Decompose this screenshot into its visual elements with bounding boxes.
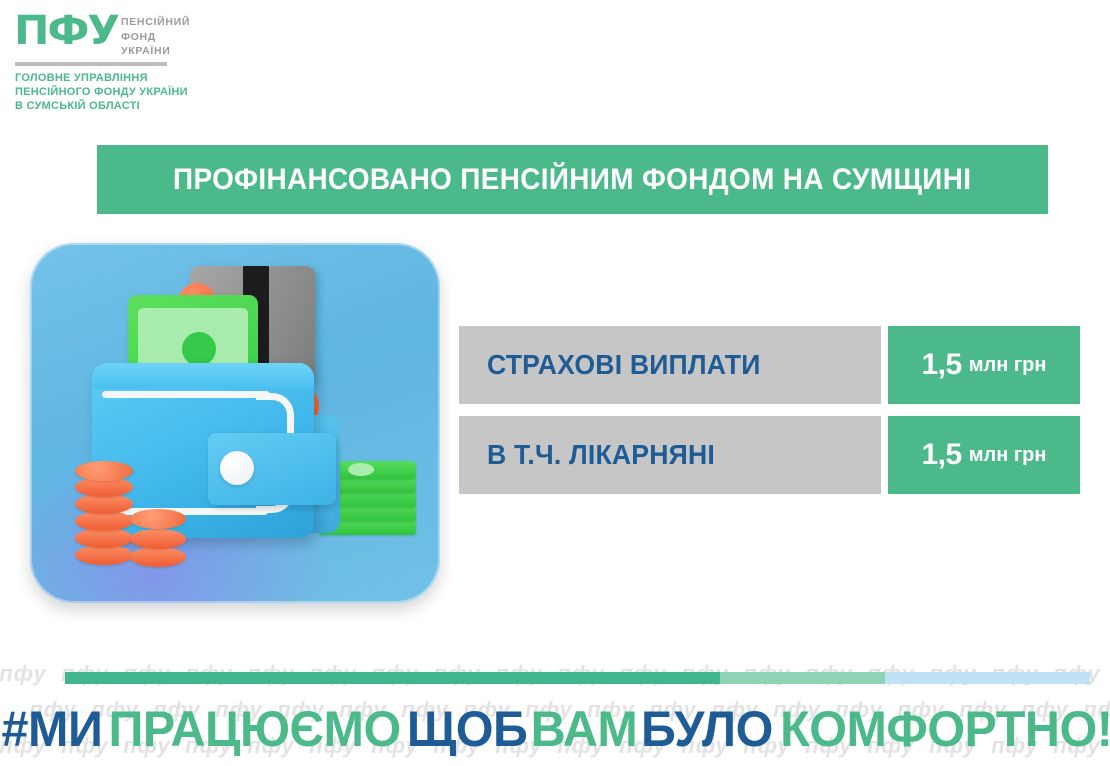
stat-row: В Т.Ч. ЛІКАРНЯНІ 1,5 млн грн	[459, 416, 1080, 494]
hashtag-part: ВАМ	[531, 700, 638, 758]
footer-hashtag: #МИПРАЦЮЄМОЩОБВАМБУЛОКОМФОРТНО!	[0, 700, 1110, 758]
wallet-money-illustration	[30, 243, 440, 603]
stat-value-unit: млн грн	[969, 354, 1047, 377]
stat-value-number: 1,5	[922, 438, 962, 472]
org-line-3: УКРАЇНИ	[121, 44, 190, 59]
bar-segment-light-green	[720, 672, 885, 684]
stat-label-text: В Т.Ч. ЛІКАРНЯНІ	[487, 439, 715, 471]
banknote-seal	[182, 332, 216, 366]
header-banner: ПРОФІНАНСОВАНО ПЕНСІЙНИМ ФОНДОМ НА СУМЩИ…	[97, 145, 1048, 214]
coin-disc	[75, 545, 133, 565]
stat-value-box: 1,5 млн грн	[888, 326, 1080, 404]
stat-label-text: СТРАХОВІ ВИПЛАТИ	[487, 349, 761, 381]
hashtag-part: ПРАЦЮЄМО	[108, 700, 400, 758]
coin-disc	[130, 547, 186, 567]
stat-value-number: 1,5	[922, 348, 962, 382]
org-line-2: ФОНД	[121, 30, 190, 45]
dept-line-1: ГОЛОВНЕ УПРАВЛІННЯ	[15, 71, 244, 85]
wallet-clasp-icon	[220, 451, 254, 485]
stat-row: СТРАХОВІ ВИПЛАТИ 1,5 млн грн	[459, 326, 1080, 404]
watermark-text: пфу	[0, 660, 54, 692]
stat-value-box: 1,5 млн грн	[888, 416, 1080, 494]
logo-row: ПФУ ПЕНСІЙНИЙ ФОНД УКРАЇНИ	[14, 10, 244, 59]
coin-disc	[75, 494, 133, 514]
bar-segment-green	[65, 672, 720, 684]
pfu-logomark: ПФУ	[14, 10, 118, 52]
pfu-logo-block: ПФУ ПЕНСІЙНИЙ ФОНД УКРАЇНИ ГОЛОВНЕ УПРАВ…	[14, 10, 244, 113]
statistics-list: СТРАХОВІ ВИПЛАТИ 1,5 млн грн В Т.Ч. ЛІКА…	[459, 326, 1080, 506]
footer: пфупфупфупфупфупфупфупфупфупфупфупфупфуп…	[0, 660, 1110, 766]
hashtag-part: КОМФОРТНО!	[780, 700, 1110, 758]
coin-disc	[130, 509, 186, 529]
coin-disc	[130, 529, 186, 549]
org-line-1: ПЕНСІЙНИЙ	[121, 15, 190, 30]
hashtag-part: ЩОБ	[407, 700, 528, 758]
coin-stack-tall	[75, 461, 133, 566]
department-name: ГОЛОВНЕ УПРАВЛІННЯ ПЕНСІЙНОГО ФОНДУ УКРА…	[15, 71, 244, 113]
wallet-stripe-top	[102, 391, 270, 398]
hashtag-part: #МИ	[2, 700, 103, 758]
hashtag-part: БУЛО	[641, 700, 773, 758]
stat-label-box: СТРАХОВІ ВИПЛАТИ	[459, 326, 881, 404]
infographic-page: ПФУ ПЕНСІЙНИЙ ФОНД УКРАЇНИ ГОЛОВНЕ УПРАВ…	[0, 0, 1110, 766]
stat-label-box: В Т.Ч. ЛІКАРНЯНІ	[459, 416, 881, 494]
coin-stack-short	[130, 509, 186, 571]
logo-divider	[15, 62, 167, 66]
illustration-scene	[30, 243, 440, 603]
coin-disc	[75, 461, 133, 481]
coin-disc	[75, 528, 133, 548]
money-stack-seal	[348, 463, 374, 476]
dept-line-2: ПЕНСІЙНОГО ФОНДУ УКРАЇНИ	[15, 85, 244, 99]
stat-value-unit: млн грн	[969, 444, 1047, 467]
dept-line-3: В СУМСЬКІЙ ОБЛАСТІ	[15, 99, 244, 113]
pfu-org-name: ПЕНСІЙНИЙ ФОНД УКРАЇНИ	[121, 10, 190, 59]
wallet-lip	[92, 363, 314, 389]
footer-color-bar	[65, 672, 1090, 684]
bar-segment-light-blue	[885, 672, 1090, 684]
banner-title: ПРОФІНАНСОВАНО ПЕНСІЙНИМ ФОНДОМ НА СУМЩИ…	[173, 163, 971, 197]
coin-disc	[75, 511, 133, 531]
